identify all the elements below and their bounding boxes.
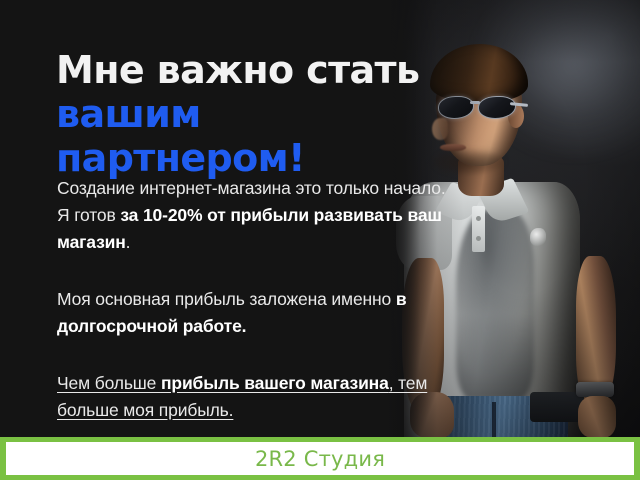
body-copy: Создание интернет-магазина это только на… xyxy=(57,175,455,424)
polo-button-top xyxy=(476,216,481,221)
wristwatch xyxy=(576,382,614,397)
paragraph-longterm-plain-start: Моя основная прибыль заложена именно xyxy=(57,289,396,309)
paragraph-offer: Создание интернет-магазина это только на… xyxy=(57,175,455,256)
headline-line-2: вашим партнером! xyxy=(56,92,456,180)
polo-print xyxy=(456,210,534,400)
polo-placket xyxy=(472,206,485,252)
headline: Мне важно стать вашим партнером! xyxy=(56,48,456,180)
paragraph-mutual-profit-plain-start: Чем больше xyxy=(57,373,161,393)
paragraph-longterm: Моя основная прибыль заложена именно в д… xyxy=(57,286,455,340)
footer-inner-panel: 2R2 Студия xyxy=(6,442,634,475)
belt-shadow xyxy=(530,392,584,422)
paragraph-offer-plain-end: . xyxy=(126,232,131,252)
paragraph-mutual-profit-bold: прибыль вашего магазина xyxy=(161,373,389,393)
polo-logo-embroidery xyxy=(530,228,546,246)
paragraph-mutual-profit: Чем больше прибыль вашего магазина, тем … xyxy=(57,370,455,424)
headline-line-1: Мне важно стать xyxy=(56,48,456,92)
polo-button-bottom xyxy=(476,236,481,241)
hand-right xyxy=(578,396,616,438)
studio-name: 2R2 Студия xyxy=(255,447,385,471)
footer-bar: 2R2 Студия xyxy=(0,437,640,480)
sunglass-bridge xyxy=(470,101,480,104)
promo-banner: Мне важно стать вашим партнером! Создани… xyxy=(0,0,640,480)
jeans-fly xyxy=(492,402,496,442)
sunglass-lens-right xyxy=(478,96,516,119)
